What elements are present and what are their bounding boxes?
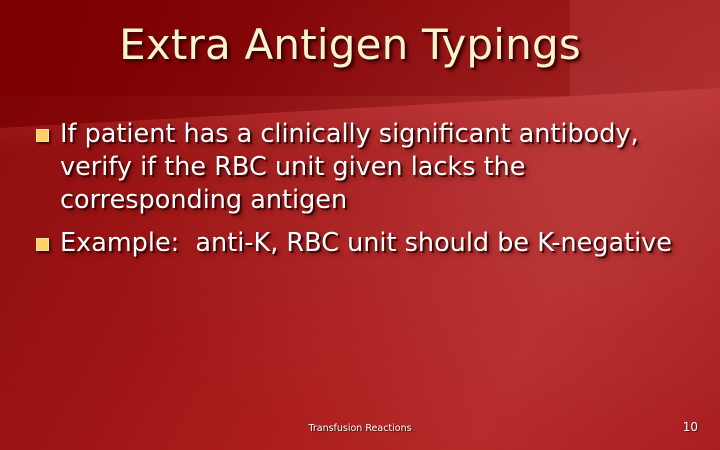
slide-canvas: Extra Antigen Typings If patient has a c… [0,0,720,450]
slide-footer-text: Transfusion Reactions [0,423,720,434]
bullet-item-text: If patient has a clinically significant … [60,118,696,217]
bullet-item-text: Example: anti-K, RBC unit should be K-ne… [60,227,696,260]
bullet-item: Example: anti-K, RBC unit should be K-ne… [36,227,696,260]
slide-page-number: 10 [683,420,698,434]
square-bullet-icon [36,129,49,142]
slide-title: Extra Antigen Typings [0,24,700,66]
bullet-item: If patient has a clinically significant … [36,118,696,217]
slide-body: If patient has a clinically significant … [36,118,696,271]
square-bullet-icon [36,238,49,251]
